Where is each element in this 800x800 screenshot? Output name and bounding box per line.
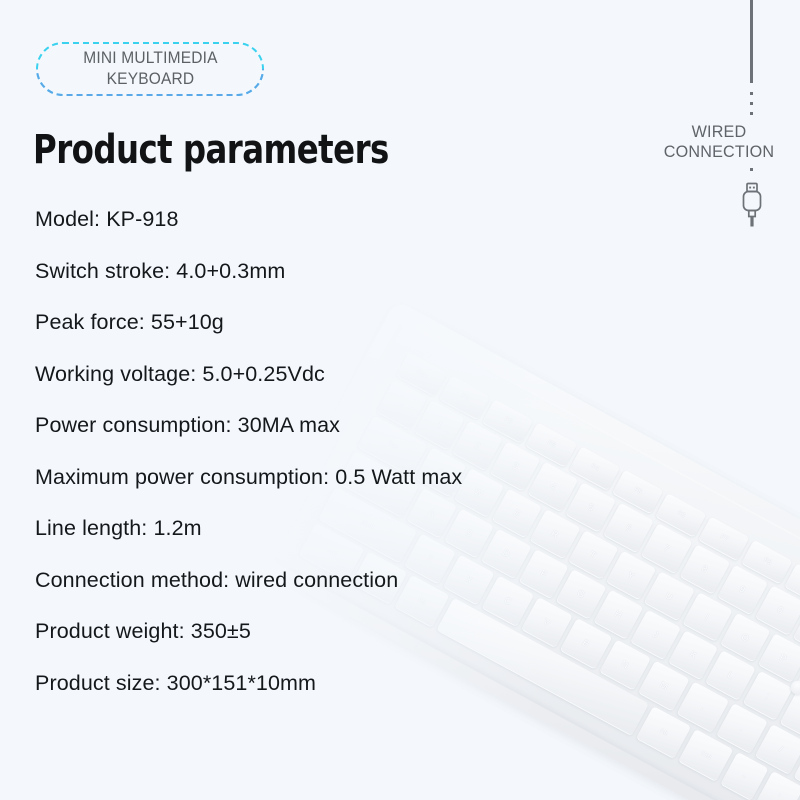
callout-dot bbox=[750, 92, 753, 95]
key: F9 bbox=[785, 563, 800, 607]
wired-connection-line-2: CONNECTION bbox=[642, 142, 796, 162]
badge-line-1: MINI MULTIMEDIA bbox=[83, 48, 217, 69]
spec-item-peak-force: Peak force: 55+10g bbox=[35, 297, 735, 349]
key: F8 bbox=[742, 540, 793, 584]
callout-dot-lower bbox=[750, 168, 753, 171]
product-name-badge: MINI MULTIMEDIA KEYBOARD bbox=[36, 42, 264, 96]
spec-item-power-consumption: Power consumption: 30MA max bbox=[35, 400, 735, 452]
key: [ bbox=[796, 654, 800, 704]
spec-item-switch-stroke: Switch stroke: 4.0+0.3mm bbox=[35, 246, 735, 298]
key: 0 bbox=[755, 585, 800, 635]
spec-item-model: Model: KP-918 bbox=[35, 194, 735, 246]
spec-item-product-weight: Product weight: 350±5 bbox=[35, 606, 735, 658]
badge-text: MINI MULTIMEDIA KEYBOARD bbox=[83, 48, 217, 90]
key: / bbox=[755, 724, 800, 774]
key: . bbox=[716, 703, 768, 753]
media-button bbox=[788, 678, 800, 697]
spec-item-connection-method: Connection method: wired connection bbox=[35, 555, 735, 607]
usb-plug-icon bbox=[738, 180, 766, 228]
spec-item-working-voltage: Working voltage: 5.0+0.25Vdc bbox=[35, 349, 735, 401]
key: Alt bbox=[636, 706, 691, 758]
key: ; bbox=[743, 671, 793, 720]
wired-connection-label: WIRED CONNECTION bbox=[642, 122, 796, 162]
spec-item-line-length: Line length: 1.2m bbox=[35, 503, 735, 555]
spec-item-product-size: Product size: 300*151*10mm bbox=[35, 658, 735, 710]
callout-dot bbox=[750, 112, 753, 115]
key: Shift bbox=[794, 745, 800, 800]
product-parameters-page: Esc F1 F2 F3 F4 F5 F6 F7 F8 F9 F10 F11 F… bbox=[0, 0, 800, 800]
page-title: Product parameters bbox=[33, 127, 389, 173]
spec-list: Model: KP-918 Switch stroke: 4.0+0.3mm P… bbox=[35, 194, 735, 709]
key: - bbox=[793, 605, 800, 655]
callout-dots-upper bbox=[750, 92, 753, 122]
key: ↑ bbox=[756, 771, 800, 800]
key: ↓ bbox=[791, 790, 800, 800]
wired-connection-callout: WIRED CONNECTION bbox=[638, 0, 800, 232]
callout-dot bbox=[750, 102, 753, 105]
wired-connection-line-1: WIRED bbox=[642, 122, 796, 142]
key: Ctrl bbox=[679, 729, 734, 781]
callout-line bbox=[750, 0, 753, 83]
keyboard-media-buttons bbox=[776, 590, 800, 767]
key: P bbox=[758, 633, 800, 683]
badge-line-2: KEYBOARD bbox=[83, 69, 217, 90]
key: ← bbox=[721, 752, 769, 800]
key: ' bbox=[780, 691, 800, 740]
spec-item-max-power-consumption: Maximum power consumption: 0.5 Watt max bbox=[35, 452, 735, 504]
